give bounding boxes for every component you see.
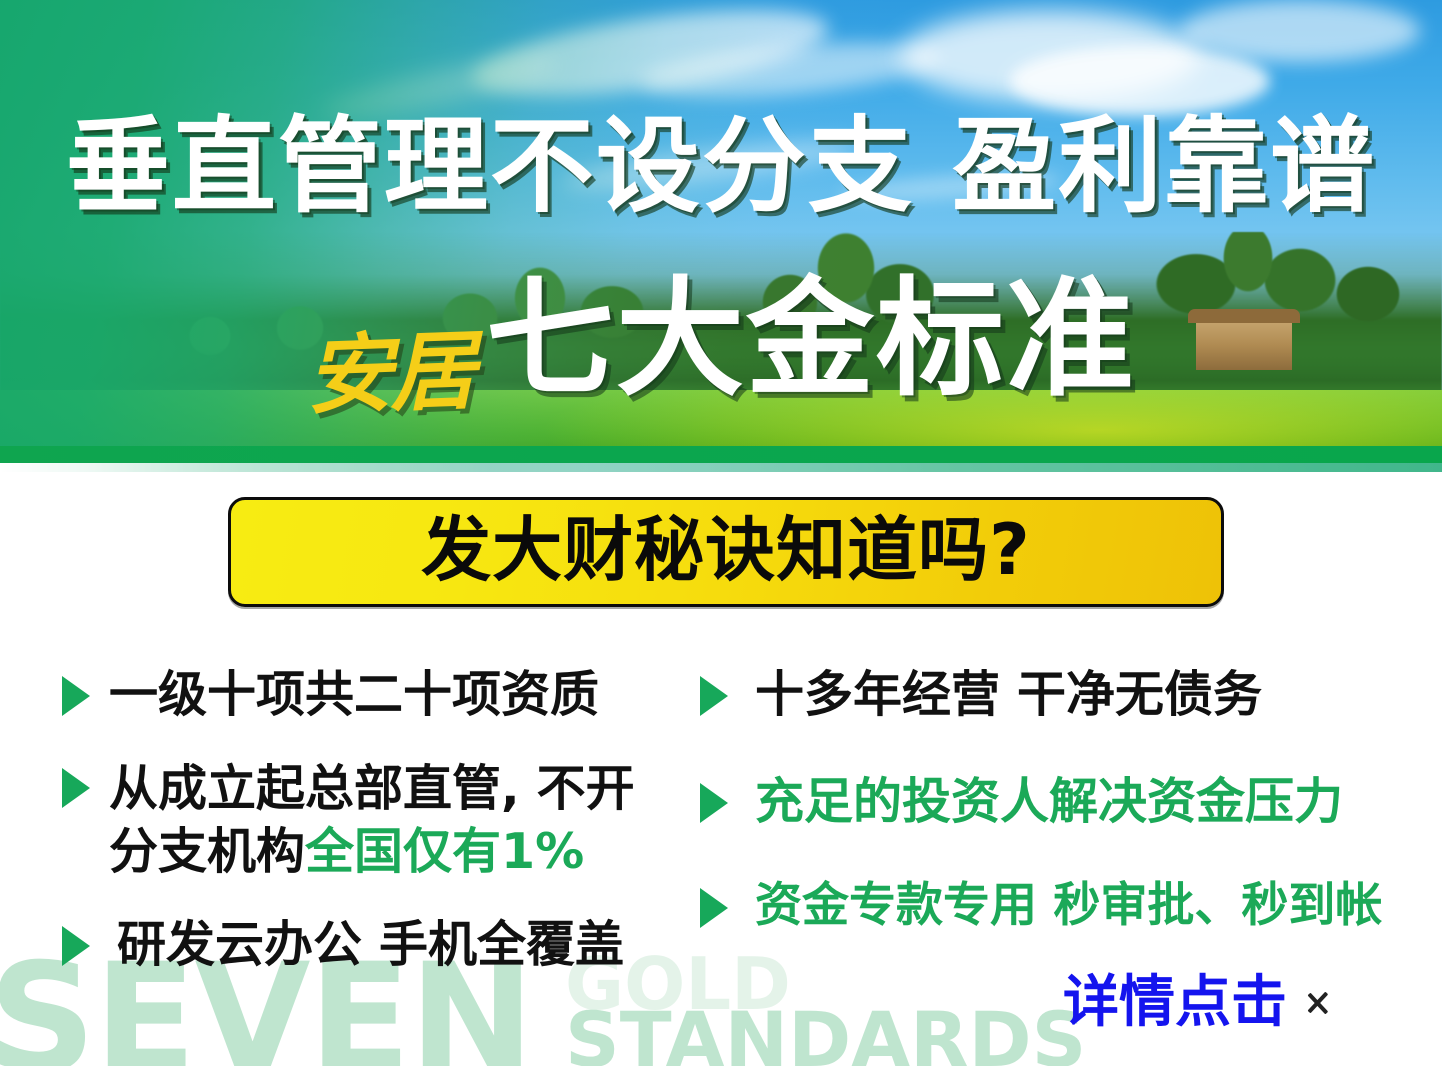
banner-headline-primary: 垂直管理不设分支 盈利靠谱 <box>0 114 1442 218</box>
triangle-bullet-icon <box>700 888 728 928</box>
feature-item-label: 充足的投资人解决资金压力 <box>747 774 1343 830</box>
banner-green-strip <box>0 446 1442 463</box>
feature-item: 一级十项共二十项资质 <box>62 667 599 723</box>
triangle-bullet-icon <box>700 783 728 823</box>
banner-bottom-fade <box>0 463 1442 472</box>
feature-item: 十多年经营 干净无债务 <box>700 667 1262 723</box>
chevron-right-icon <box>1305 981 1331 1025</box>
feature-item-line2-plain: 分支机构 <box>109 823 305 880</box>
feature-item: 从成立起总部直管, 不开分支机构全国仅有1% <box>62 758 635 883</box>
feature-item-label: 十多年经营 干净无债务 <box>747 667 1262 723</box>
triangle-bullet-icon <box>62 676 90 716</box>
banner-headline-secondary-row: 安居七大金标准 <box>0 276 1442 404</box>
cta-banner-button[interactable]: 发大财秘诀知道吗? <box>228 497 1224 607</box>
triangle-bullet-icon <box>62 768 90 808</box>
feature-item-line2-highlight: 全国仅有1% <box>305 823 584 880</box>
detail-link[interactable]: 详情点击 <box>1063 975 1331 1031</box>
hero-banner: 垂直管理不设分支 盈利靠谱 安居七大金标准 <box>0 0 1442 472</box>
feature-item: 充足的投资人解决资金压力 <box>700 774 1343 830</box>
feature-item: 研发云办公 手机全覆盖 <box>62 917 624 973</box>
triangle-bullet-icon <box>700 676 728 716</box>
feature-item: 资金专款专用 秒审批、秒到帐 <box>700 879 1382 933</box>
banner-headline-secondary: 七大金标准 <box>486 276 1136 404</box>
feature-list: 一级十项共二十项资质 从成立起总部直管, 不开分支机构全国仅有1% 研发云办公 … <box>0 607 1442 987</box>
feature-item-line1: 从成立起总部直管, 不开 <box>109 760 635 817</box>
feature-item-label: 研发云办公 手机全覆盖 <box>109 917 624 973</box>
feature-item-label: 一级十项共二十项资质 <box>109 667 599 723</box>
triangle-bullet-icon <box>62 926 90 966</box>
feature-item-label: 资金专款专用 秒审批、秒到帐 <box>747 879 1382 933</box>
watermark-standards: STANDARDS <box>565 1002 1086 1066</box>
cta-label: 发大财秘诀知道吗? <box>421 515 1031 585</box>
banner-brand-text: 安居 <box>305 328 476 420</box>
detail-link-label: 详情点击 <box>1063 975 1287 1031</box>
feature-item-label: 从成立起总部直管, 不开分支机构全国仅有1% <box>109 758 635 883</box>
